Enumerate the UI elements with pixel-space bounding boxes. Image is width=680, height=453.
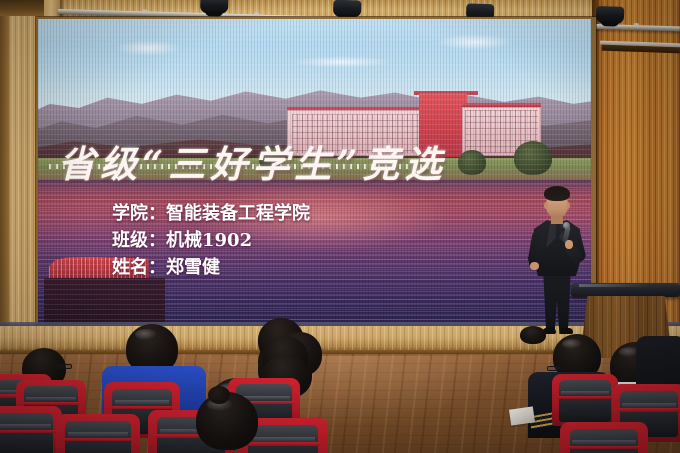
presenter <box>524 178 590 338</box>
presenter-trousers <box>542 272 572 334</box>
auditorium-seat[interactable] <box>552 374 618 426</box>
spotlight-icon <box>200 0 228 14</box>
presenter-ear <box>544 202 548 209</box>
slide-cloud <box>115 40 181 55</box>
presenter-hair <box>544 186 570 201</box>
auditorium-seat[interactable] <box>560 422 648 453</box>
slide-info-block: 学院：智能装备工程学院 班级：机械1902 姓名：郑雪健 <box>112 200 310 281</box>
audience-hair-bun <box>208 386 230 404</box>
slide-foreground-shadow <box>44 278 166 324</box>
eyeglasses-icon <box>56 364 72 369</box>
slide-cloud <box>436 34 513 49</box>
presenter-ear <box>566 202 570 209</box>
secondary-light-bar <box>600 41 680 53</box>
slide-line-class: 班级：机械1902 <box>112 227 310 254</box>
presenter-left-hand <box>530 262 539 270</box>
left-wall-shadow-strip <box>0 0 9 366</box>
auditorium-seat[interactable] <box>0 406 62 453</box>
slide-cloud <box>292 56 392 68</box>
slide-title: 省级“三好学生”竞选 <box>58 134 558 188</box>
spotlight-icon <box>596 6 624 24</box>
microphone-head <box>563 222 570 229</box>
audience-area <box>0 330 680 453</box>
auditorium-seat[interactable] <box>56 414 140 453</box>
handheld-papers <box>509 406 535 425</box>
slide-line-college: 学院：智能装备工程学院 <box>112 200 310 227</box>
audience-head <box>520 326 546 344</box>
left-wall-top-trim <box>0 0 44 16</box>
slide-line-name: 姓名：郑雪健 <box>112 254 310 281</box>
presenter-right-hand <box>565 240 573 249</box>
auditorium-scene: 省级“三好学生”竞选 学院：智能装备工程学院 班级：机械1902 姓名：郑雪健 <box>0 0 680 453</box>
spotlight-icon <box>333 0 361 17</box>
eyeglasses-icon <box>547 366 561 371</box>
